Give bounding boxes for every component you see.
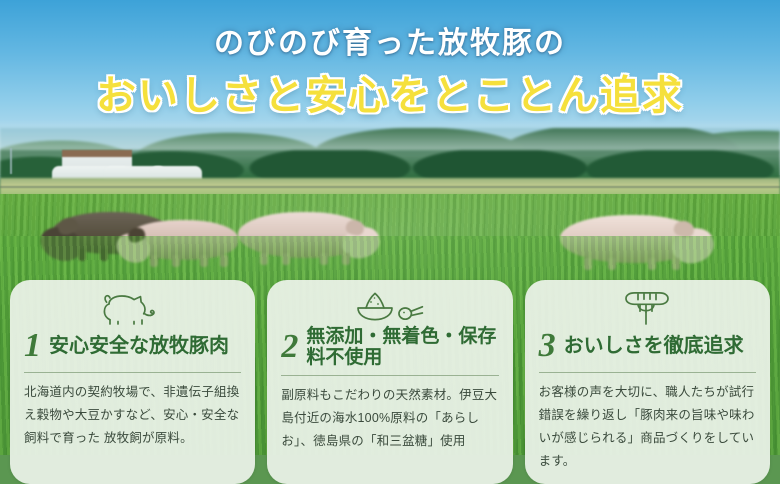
card-1-heading: 1 安心安全な放牧豚肉: [24, 326, 241, 370]
card-1-title: 安心安全な放牧豚肉: [49, 335, 229, 357]
feature-card-1: 1 安心安全な放牧豚肉 北海道内の契約牧場で、非遺伝子組換え穀物や大豆かすなど、…: [10, 280, 255, 484]
feature-card-3: 3 おいしさを徹底追求 お客様の声を大切に、職人たちが試行錯誤を繰り返し「豚肉来…: [525, 280, 770, 484]
sausage-fork-icon: [539, 290, 756, 326]
card-3-body: お客様の声を大切に、職人たちが試行錯誤を繰り返し「豚肉来の旨味や味わいが感じられ…: [539, 381, 756, 474]
card-1-body: 北海道内の契約牧場で、非遺伝子組換え穀物や大豆かすなど、安心・安全な飼料で育った…: [24, 381, 241, 450]
card-2-body: 副原料もこだわりの天然素材。伊豆大島付近の海水100%原料の「あらしお」、徳島県…: [281, 384, 498, 453]
card-3-divider: [539, 372, 756, 373]
utility-pole: [10, 148, 12, 174]
card-2-title: 無添加・無着色・保存料不使用: [306, 326, 498, 369]
feature-cards: 1 安心安全な放牧豚肉 北海道内の契約牧場で、非遺伝子組換え穀物や大豆かすなど、…: [0, 280, 780, 484]
card-3-title: おいしさを徹底追求: [564, 335, 744, 357]
headline-line-2: おいしさと安心をとことん追求: [0, 69, 780, 123]
card-1-number: 1: [24, 329, 41, 363]
card-2-divider: [281, 375, 498, 376]
card-2-number: 2: [281, 330, 298, 364]
headline: のびのび育った放牧豚の おいしさと安心をとことん追求: [0, 24, 780, 123]
card-2-heading: 2 無添加・無着色・保存料不使用: [281, 326, 498, 373]
card-1-divider: [24, 372, 241, 373]
promo-banner: のびのび育った放牧豚の おいしさと安心をとことん追求 1 安心安全な放牧豚肉 北…: [0, 0, 780, 484]
feature-card-2: 2 無添加・無着色・保存料不使用 副原料もこだわりの天然素材。伊豆大島付近の海水…: [267, 280, 512, 484]
pig-icon: [24, 290, 241, 326]
card-3-number: 3: [539, 329, 556, 363]
headline-line-1: のびのび育った放牧豚の: [0, 24, 780, 65]
fence-line: [0, 186, 780, 188]
salt-bowl-icon: [281, 290, 498, 326]
card-3-heading: 3 おいしさを徹底追求: [539, 326, 756, 370]
